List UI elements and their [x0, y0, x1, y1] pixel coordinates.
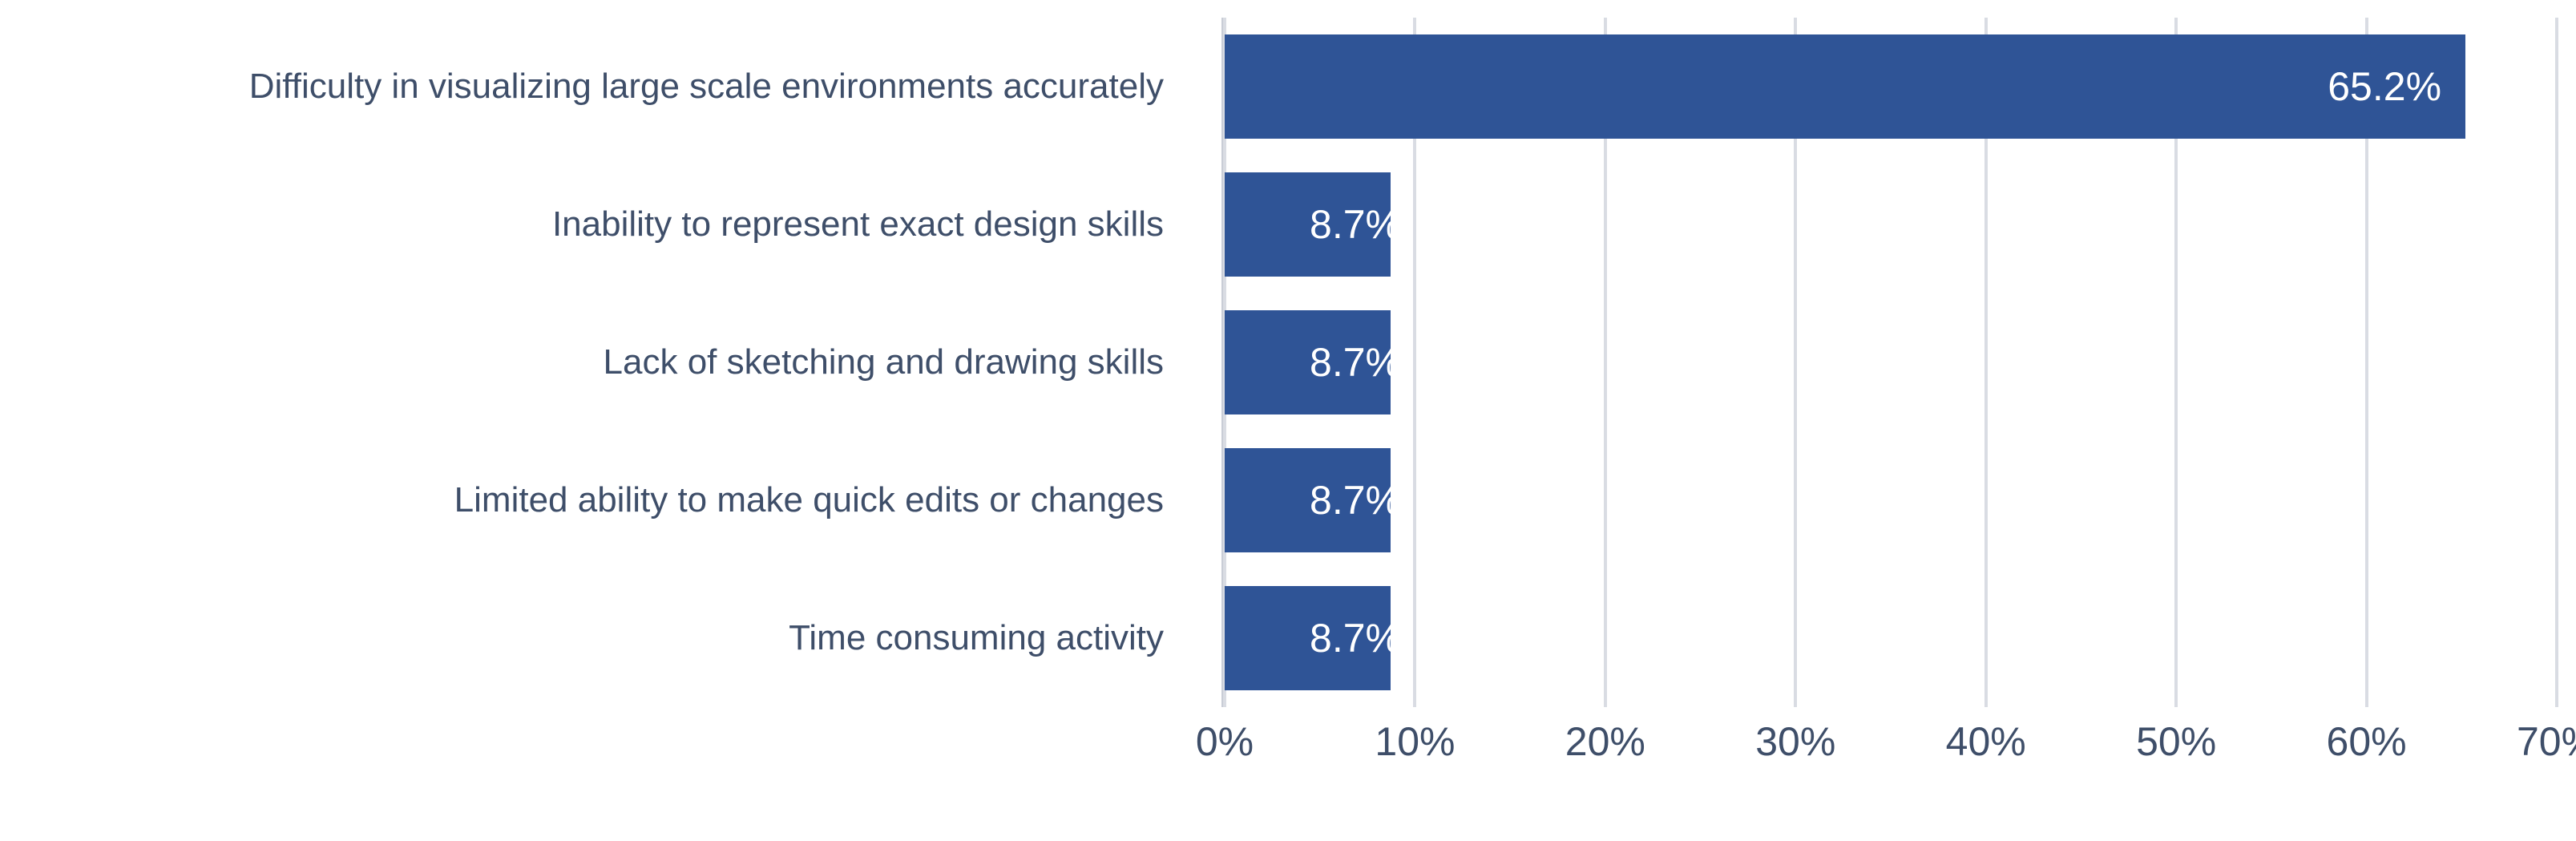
category-label: Time consuming activity — [0, 621, 1164, 656]
bar-value-label: 65.2% — [2265, 34, 2441, 139]
category-axis-labels: Difficulty in visualizing large scale en… — [0, 18, 1202, 707]
category-label: Lack of sketching and drawing skills — [0, 345, 1164, 380]
x-tick-label: 20% — [1565, 722, 1645, 762]
category-label: Limited ability to make quick edits or c… — [0, 483, 1164, 518]
category-label: Inability to represent exact design skil… — [0, 207, 1164, 242]
bar-value-label: 8.7% — [1225, 310, 1401, 414]
plot-area: 65.2% 8.7% 8.7% 8.7% 8.7% — [1225, 18, 2557, 707]
x-tick-label: 10% — [1375, 722, 1455, 762]
bar-value-label: 8.7% — [1225, 586, 1401, 690]
x-tick-label: 30% — [1755, 722, 1835, 762]
value-axis-ticks: 0% 10% 20% 30% 40% 50% 60% 70% — [1225, 722, 2557, 786]
bar-value-label: 8.7% — [1225, 448, 1401, 552]
bar-value-label: 8.7% — [1225, 172, 1401, 277]
x-tick-label: 50% — [2136, 722, 2216, 762]
x-tick-label: 40% — [1946, 722, 2026, 762]
category-label: Difficulty in visualizing large scale en… — [0, 69, 1164, 104]
x-tick-label: 60% — [2327, 722, 2407, 762]
x-tick-label: 70% — [2517, 722, 2576, 762]
bar-chart: Difficulty in visualizing large scale en… — [0, 0, 2576, 841]
x-tick-label: 0% — [1196, 722, 1254, 762]
gridline — [2555, 18, 2558, 707]
